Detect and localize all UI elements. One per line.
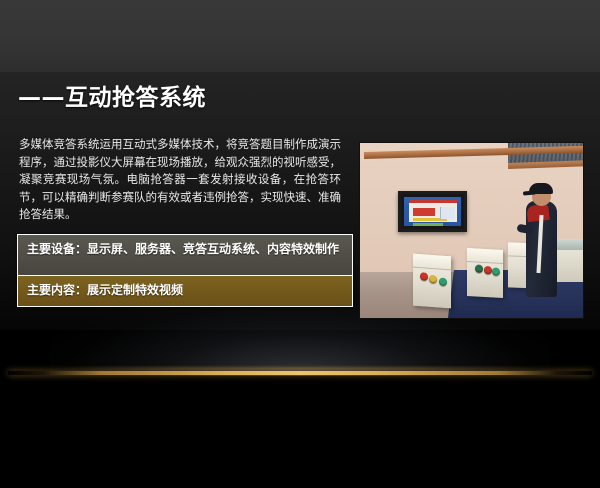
photo-buzzer-button-green-2 [492,267,500,275]
gold-divider-line [8,371,592,375]
caption-main-equipment: 主要设备：显示屏、服务器、竞答互动系统、内容特效制作 [18,235,352,276]
photo-person-shoulder [526,204,550,222]
photo-display-window [409,200,457,222]
photo-display-side-panel [440,207,455,219]
page-title: ——互动抢答系统 [18,86,206,111]
photo-buzzer-podium-2 [467,248,503,298]
photo-display-row-green [413,223,443,226]
presentation-slide: ——互动抢答系统 多媒体竞答系统运用互动式多媒体技术，将竞答题目制作成演示程序，… [0,0,600,488]
site-photo [360,143,583,318]
photo-buzzer-button-red [420,272,428,281]
caption-box-group: 主要设备：显示屏、服务器、竞答互动系统、内容特效制作 主要内容：展示定制特效视频 [17,234,353,307]
photo-buzzer-button-yellow [429,275,437,284]
photo-podium-top-2 [467,248,503,264]
photo-buzzer-button-green [439,277,447,286]
photo-display-row-red [413,208,435,216]
photo-podium-top-1 [413,254,451,271]
body-paragraph: 多媒体竞答系统运用互动式多媒体技术，将竞答题目制作成演示程序，通过投影仪大屏幕在… [19,136,341,224]
photo-far-desk-top [556,239,583,250]
photo-buzzer-podium-1 [413,254,451,309]
photo-frame [359,142,584,319]
photo-buzzer-button-red-2 [484,266,492,274]
photo-far-desk-body [556,250,583,282]
slide-background-top [0,0,600,72]
photo-buzzer-button-darkgreen [475,264,483,272]
slide-background-bottom [0,330,600,488]
gold-divider-glow [60,367,540,370]
photo-wall-display [398,191,467,232]
caption-main-content: 主要内容：展示定制特效视频 [18,276,352,306]
photo-display-screen [404,197,461,226]
